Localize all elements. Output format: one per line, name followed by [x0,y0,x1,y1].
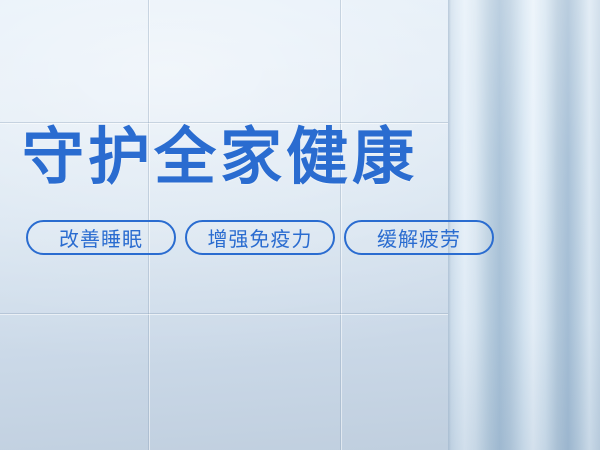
benefit-tag-relieve-fatigue[interactable]: 缓解疲劳 [344,220,494,255]
health-promo-banner: 守护全家健康 改善睡眠 增强免疫力 缓解疲劳 [0,0,600,450]
benefit-tag-improve-sleep[interactable]: 改善睡眠 [26,220,176,255]
banner-content: 守护全家健康 改善睡眠 增强免疫力 缓解疲劳 [0,0,600,450]
benefit-tag-boost-immunity[interactable]: 增强免疫力 [185,220,335,255]
benefit-tag-row: 改善睡眠 增强免疫力 缓解疲劳 [26,220,494,255]
benefit-tag-label: 缓解疲劳 [377,223,461,252]
headline-text: 守护全家健康 [22,122,418,194]
benefit-tag-label: 增强免疫力 [208,223,313,252]
benefit-tag-label: 改善睡眠 [59,223,143,252]
